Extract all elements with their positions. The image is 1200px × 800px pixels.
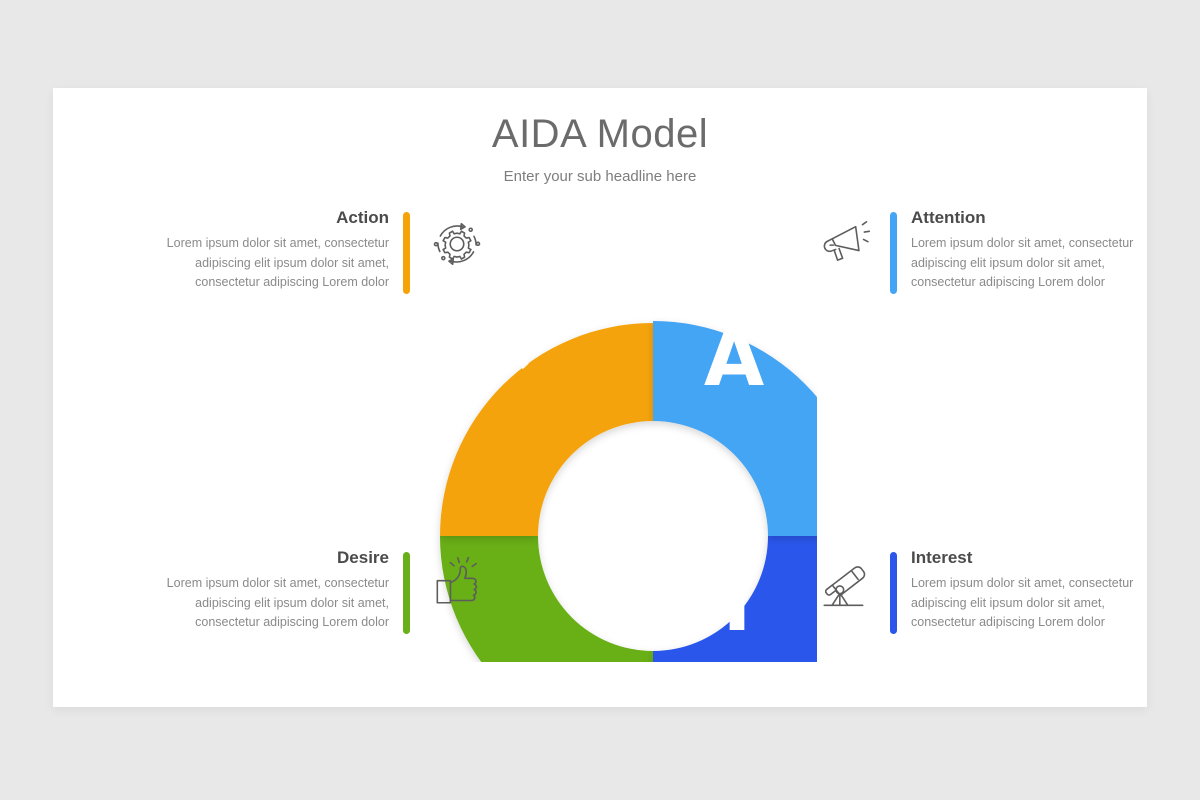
info-block-action[interactable]: Action Lorem ipsum dolor sit amet, conse… [144,208,490,294]
info-body-attention: Lorem ipsum dolor sit amet, consectetur … [911,234,1156,292]
thumbs-up-icon [424,548,490,620]
donut-letter-attention: A [704,314,764,404]
telescope-icon [810,548,876,620]
accent-bar-attention [890,212,897,294]
info-heading-interest: Interest [911,548,1156,568]
donut-letter-interest: I [722,559,751,649]
info-heading-attention: Attention [911,208,1156,228]
info-body-interest: Lorem ipsum dolor sit amet, consectetur … [911,574,1156,632]
info-heading-desire: Desire [144,548,389,568]
info-text-desire: Desire Lorem ipsum dolor sit amet, conse… [144,548,389,633]
accent-bar-interest [890,552,897,634]
info-text-action: Action Lorem ipsum dolor sit amet, conse… [144,208,389,293]
slide-card: AIDA Model Enter your sub headline here [53,88,1147,707]
info-body-desire: Lorem ipsum dolor sit amet, consectetur … [144,574,389,632]
page-title: AIDA Model [53,112,1147,157]
page-subtitle: Enter your sub headline here [53,168,1147,185]
info-body-action: Lorem ipsum dolor sit amet, consectetur … [144,234,389,292]
info-text-interest: Interest Lorem ipsum dolor sit amet, con… [911,548,1156,633]
megaphone-icon [810,208,876,280]
info-block-desire[interactable]: Desire Lorem ipsum dolor sit amet, conse… [144,548,490,634]
info-heading-action: Action [144,208,389,228]
accent-bar-desire [403,552,410,634]
info-block-attention[interactable]: Attention Lorem ipsum dolor sit amet, co… [810,208,1156,294]
info-block-interest[interactable]: Interest Lorem ipsum dolor sit amet, con… [810,548,1156,634]
info-text-attention: Attention Lorem ipsum dolor sit amet, co… [911,208,1156,293]
accent-bar-action [403,212,410,294]
gear-process-icon [424,208,490,280]
